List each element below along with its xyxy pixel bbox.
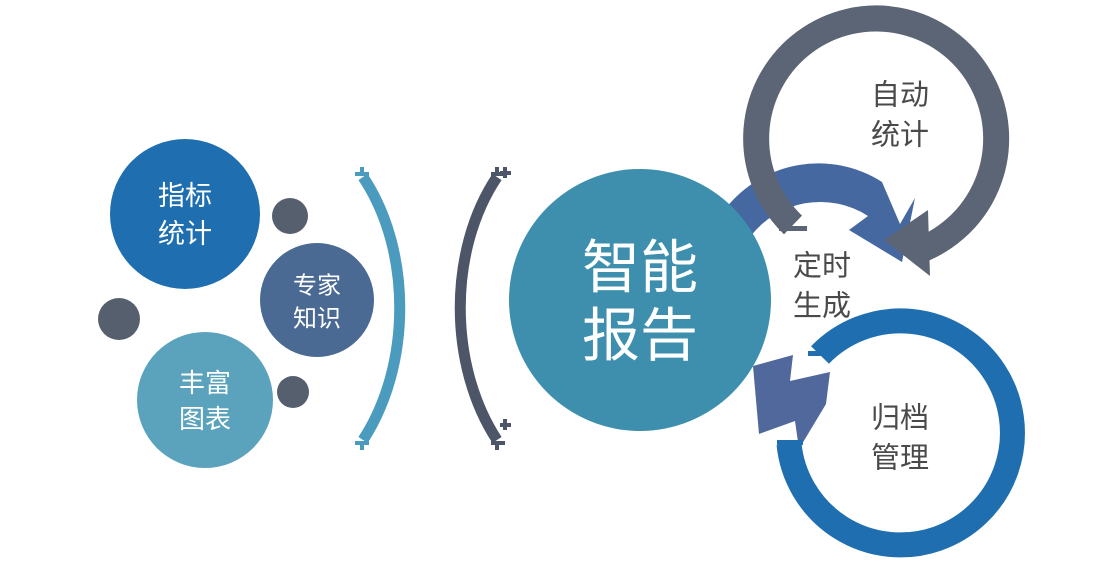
bracket-right-tick-top [495, 167, 499, 173]
gray-dot-2 [98, 298, 140, 340]
middle-label-line1: 定时 [793, 250, 851, 283]
output-ring-handle-bottom-a [808, 351, 834, 356]
diagram-svg: 指标 统计 专家 知识 丰富 图表 [0, 0, 1118, 568]
bracket-right [460, 167, 505, 450]
output-ring-label-top-line1: 自动 [871, 79, 929, 112]
output-ring-label-bottom-line2: 管理 [871, 442, 929, 475]
middle-label-line2: 生成 [793, 290, 851, 323]
diagram-canvas: 指标 统计 专家 知识 丰富 图表 [0, 0, 1118, 568]
input-circle-label-2-line2: 知识 [293, 305, 341, 332]
bracket-left-tick-bottom [360, 444, 364, 450]
input-circle-label-1-line1: 指标 [158, 181, 212, 211]
bracket-right-arc [460, 177, 497, 440]
input-circle-fengfu-tubiao[interactable]: 丰富 图表 [137, 332, 273, 468]
input-circle-bg-2 [260, 243, 374, 357]
output-ring-guidang-guanli[interactable]: 归档 管理 [777, 321, 1012, 545]
bracket-left-tick-top [360, 167, 364, 173]
center-hub-circle[interactable]: 智能 报告 [500, 167, 771, 431]
gray-dot-3 [277, 376, 309, 408]
input-circle-bg-3 [137, 332, 273, 468]
input-circle-label-2-line1: 专家 [293, 272, 341, 299]
output-ring-label-top-line2: 统计 [871, 119, 929, 152]
output-ring-handle-bottom-b [777, 440, 803, 445]
center-hub-label-line2: 报告 [582, 303, 698, 368]
input-circle-bg-1 [110, 139, 260, 289]
input-circle-label-3-line2: 图表 [179, 404, 231, 434]
connector-block-arrow-shape [753, 355, 830, 449]
center-hub-label-line1: 智能 [582, 235, 698, 300]
middle-label-dingshi-shengcheng: 定时 生成 [793, 250, 851, 323]
connector-block-arrow-bottom [753, 355, 830, 449]
input-circle-label-1-line2: 统计 [158, 219, 212, 249]
output-ring-handle-top [779, 226, 807, 231]
input-circle-label-3-line1: 丰富 [179, 368, 231, 398]
output-ring-label-bottom-line1: 归档 [871, 402, 929, 435]
gray-dot-1 [272, 198, 308, 234]
input-circle-zhuanjia-zhishi[interactable]: 专家 知识 [260, 243, 374, 357]
input-circle-zhibiao-tongji[interactable]: 指标 统计 [110, 139, 260, 289]
bracket-right-tick-bottom [495, 444, 499, 450]
